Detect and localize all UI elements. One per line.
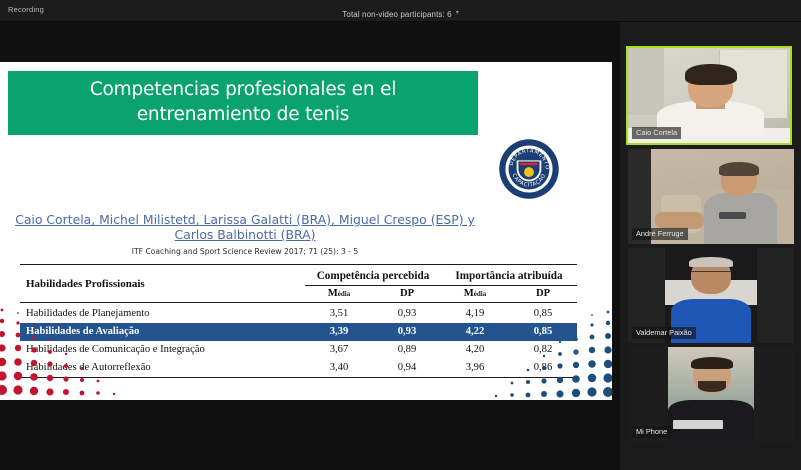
non-video-participants-control[interactable]: Total non-video participants: 6▾ [0,4,801,22]
table-cell-value: 3,40 [305,359,373,378]
table-subheader-media-1-suffix: édia [338,290,350,298]
presentation-slide: Competencias profesionales en el entrena… [0,62,612,400]
slide-citation: ITF Coaching and Sport Science Review 20… [10,247,480,256]
table-subheader-dp-2: DP [509,286,577,303]
table-cell-value: 3,67 [305,341,373,359]
participant-tile-caio-cortela[interactable]: Caio Cortela [626,46,792,145]
chevron-down-icon[interactable]: ▾ [456,9,459,16]
participant-name-label: Mi Phone [632,426,671,439]
participant-name-label: Caio Cortela [632,127,681,140]
decorative-dots-blue [466,306,612,400]
participant-tile-valdemar-paixao[interactable]: Valdemar Paixão [628,248,794,343]
table-group-header-competencia: Competência percebida [305,267,441,286]
table-subheader-media-2-suffix: édia [474,290,486,298]
slide-title: Competencias profesionales en el entrena… [8,78,478,128]
table-cell-value: 0,89 [373,341,441,359]
table-group-header-row: Habilidades Profissionais Competência pe… [20,267,577,286]
table-cell-value: 3,51 [305,305,373,323]
slide-authors: Caio Cortela, Michel Milistetd, Larissa … [10,212,480,242]
video-conference-window: Recording Total non-video participants: … [0,0,801,470]
slide-title-banner: Competencias profesionales en el entrena… [8,71,478,135]
table-cell-value: 0,93 [373,323,441,341]
participant-name-label: André Ferruge [632,228,688,241]
shared-screen-stage[interactable]: Competencias profesionales en el entrena… [0,22,620,470]
participant-name-label: Valdemar Paixão [632,327,696,340]
decorative-dots-red [0,304,144,400]
table-subheader-dp-1: DP [373,286,441,303]
meeting-top-bar: Recording Total non-video participants: … [0,0,801,22]
participant-tile-mi-phone[interactable]: Mi Phone [628,347,794,442]
table-group-header-importancia: Importância atribuída [441,267,577,286]
table-cell-value: 3,39 [305,323,373,341]
table-cell-value: 0,93 [373,305,441,323]
table-row-header-label: Habilidades Profissionais [20,267,305,303]
participant-video-rail[interactable]: Caio Cortela André Ferruge Valdemar Paix… [620,22,801,470]
table-subheader-media-1: Média [305,286,373,303]
participant-tile-andre-ferruge[interactable]: André Ferruge [628,149,794,244]
table-subheader-media-2: Média [441,286,509,303]
table-cell-value: 0,94 [373,359,441,378]
non-video-participants-label: Total non-video participants: 6 [342,10,451,19]
departamento-capacitacao-logo-icon: DEPARTAMENTO CAPACITAÇÃO [498,138,560,200]
